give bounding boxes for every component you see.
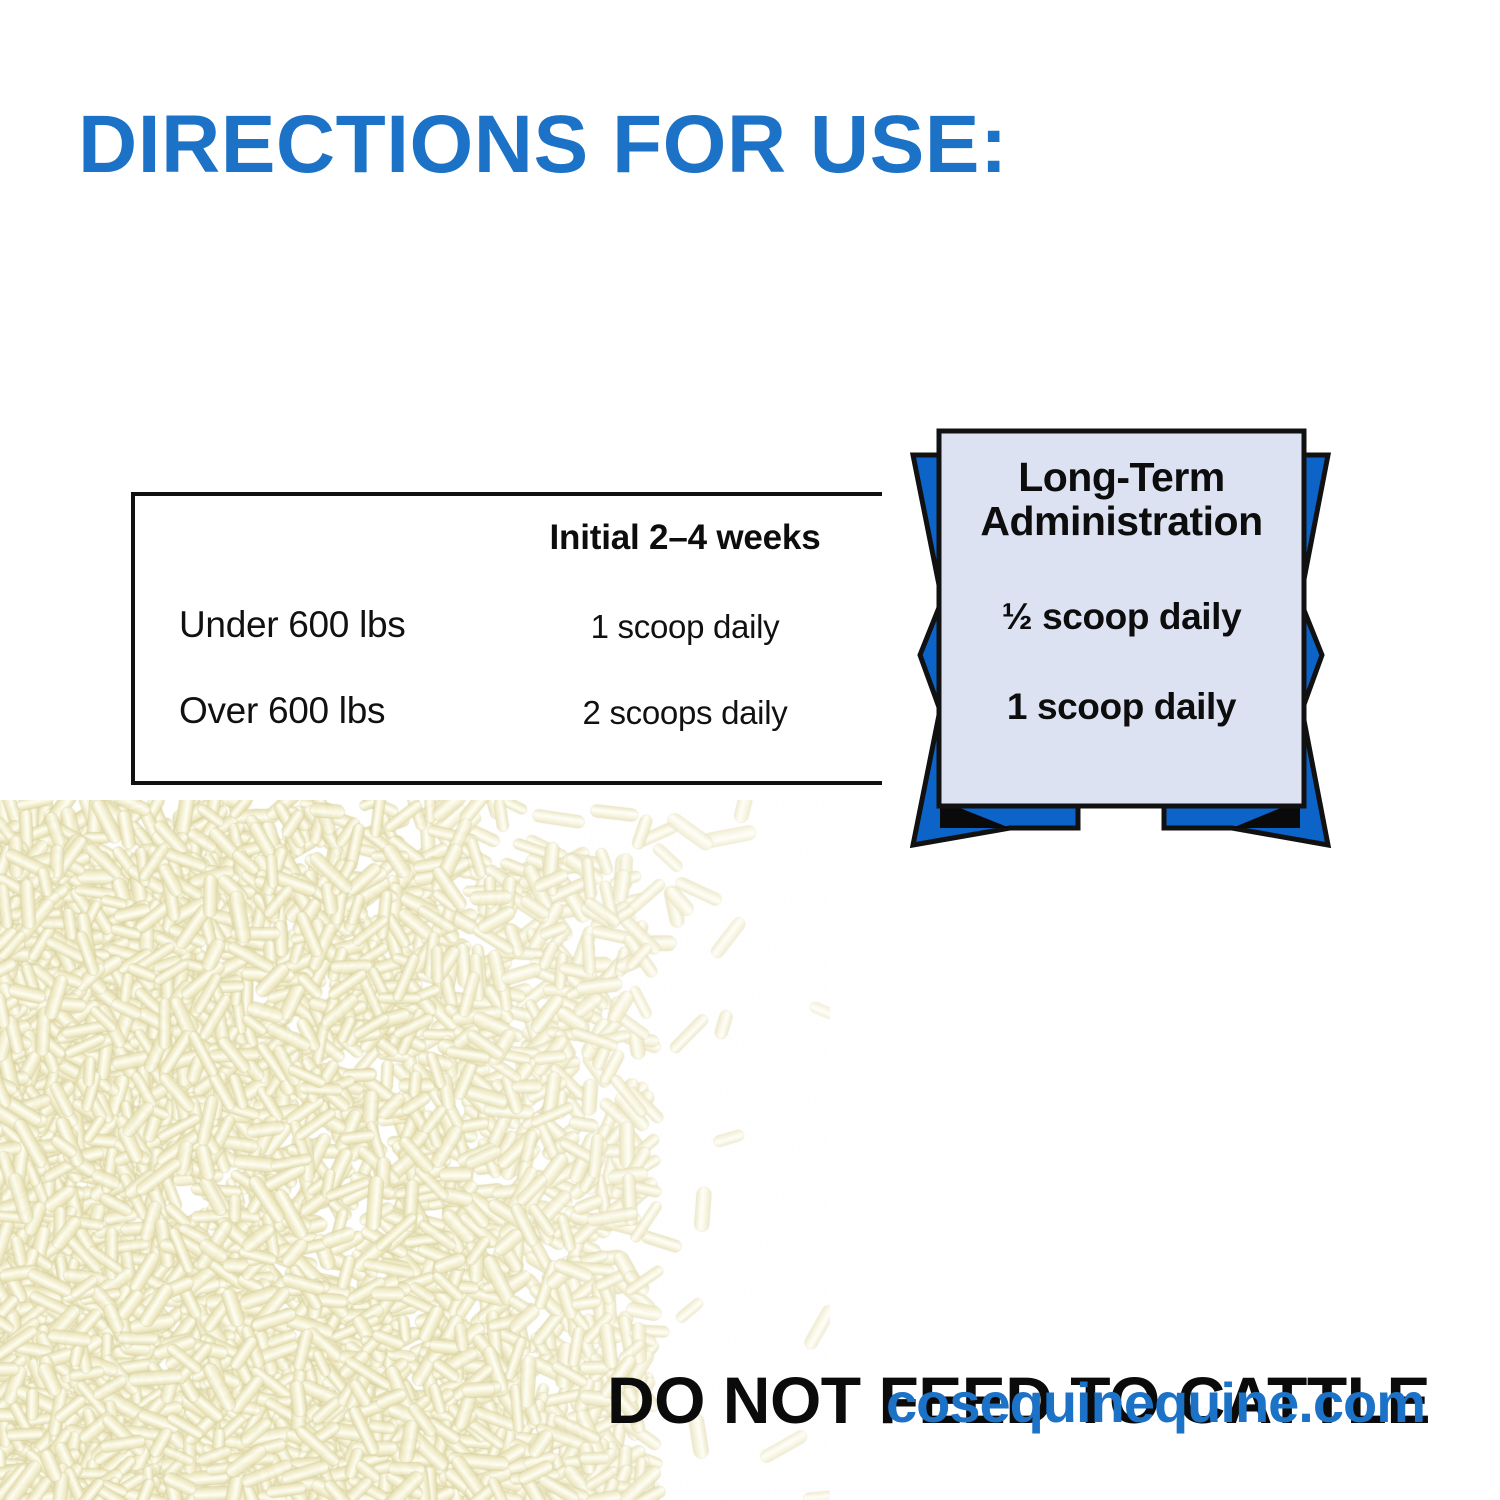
product-label-panel: DIRECTIONS FOR USE: Initial 2–4 weeks Un… [0,0,1500,1500]
dosage-table: Initial 2–4 weeks Under 600 lbs 1 scoop … [131,492,882,785]
page-title: DIRECTIONS FOR USE: [78,104,1008,186]
feeding-warning: DO NOT FEED TO CATTLE OR OTHER RUMINANTS [0,1222,1430,1500]
long-term-administration-ribbon: Long-Term Administration ½ scoop daily 1… [860,410,1380,850]
table-row-dose-0: 1 scoop daily [505,608,865,646]
table-row-dose-1: 2 scoops daily [505,694,865,732]
table-row-weight-1: Over 600 lbs [179,690,385,732]
dosage-table-column-header: Initial 2–4 weeks [505,518,865,558]
ribbon-panel-shape [939,431,1304,806]
ribbon-shape [860,410,1380,850]
website-url[interactable]: cosequinequine.com [0,1370,1425,1435]
table-row-weight-0: Under 600 lbs [179,604,405,646]
